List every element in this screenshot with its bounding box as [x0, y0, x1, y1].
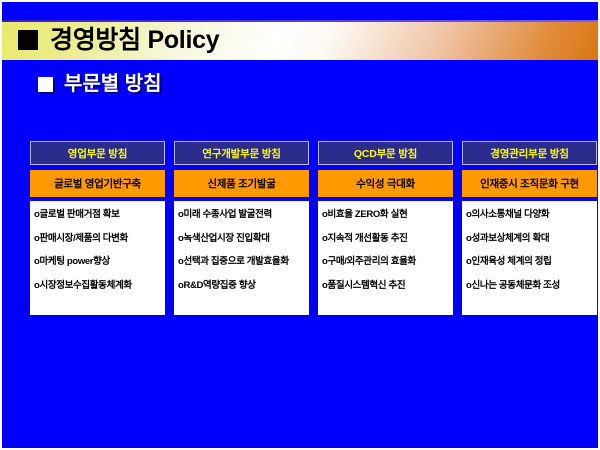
- policy-column-sales: 영업부문 방침 글로벌 영업기반구축 o 글로벌 판매거점 확보 o 판매시장/…: [30, 141, 165, 315]
- policy-columns: 영업부문 방침 글로벌 영업기반구축 o 글로벌 판매거점 확보 o 판매시장/…: [30, 141, 577, 315]
- column-header: 연구개발부문 방침: [174, 141, 309, 165]
- list-item-label: 성과보상체계의 확대: [471, 234, 549, 244]
- list-item: o 비효율 ZERO화 실현: [322, 210, 450, 220]
- list-item-label: 녹색산업시장 진입확대: [183, 234, 269, 244]
- policy-column-qcd: QCD부문 방침 수익성 극대화 o 비효율 ZERO화 실현 o 지속적 개선…: [318, 141, 453, 315]
- list-item: o 신나는 공동체문화 조성: [466, 281, 594, 291]
- list-item-label: 비효율 ZERO화 실현: [327, 210, 407, 220]
- list-item: o 시장정보수집활동체계화: [34, 281, 162, 291]
- list-item: o 품질시스템혁신 추진: [322, 281, 450, 291]
- column-subhead: 수익성 극대화: [318, 170, 453, 197]
- policy-column-management: 경영관리부문 방침 인재중시 조직문화 구현 o 의사소통채널 다양화 o 성과…: [462, 141, 597, 315]
- list-item-label: 품질시스템혁신 추진: [327, 281, 405, 291]
- column-header: 영업부문 방침: [30, 141, 165, 165]
- list-item: o 선택과 집중으로 개발효율화: [178, 257, 306, 267]
- white-square-marker-icon: [38, 77, 53, 92]
- list-item: o 성과보상체계의 확대: [466, 234, 594, 244]
- list-item: o 구매/외주관리의 효율화: [322, 257, 450, 267]
- column-bullet-list: o 비효율 ZERO화 실현 o 지속적 개선활동 추진 o 구매/외주관리의 …: [318, 201, 453, 315]
- list-item-label: 의사소통채널 다양화: [471, 210, 549, 220]
- list-item-label: 미래 수종사업 발굴전력: [183, 210, 271, 220]
- list-item: o 판매시장/제품의 다변화: [34, 234, 162, 244]
- policy-column-rnd: 연구개발부문 방침 신제품 조기발굴 o 미래 수종사업 발굴전력 o 녹색산업…: [174, 141, 309, 315]
- list-item-label: 판매시장/제품의 다변화: [39, 234, 127, 244]
- list-item-label: 글로벌 판매거점 확보: [39, 210, 119, 220]
- slide-title-text: 경영방침 Policy: [50, 28, 219, 53]
- column-subhead: 글로벌 영업기반구축: [30, 170, 165, 197]
- list-item: o 지속적 개선활동 추진: [322, 234, 450, 244]
- list-item: o 글로벌 판매거점 확보: [34, 210, 162, 220]
- column-bullet-list: o 미래 수종사업 발굴전력 o 녹색산업시장 진입확대 o 선택과 집중으로 …: [174, 201, 309, 315]
- list-item: o 마케팅 power향상: [34, 257, 162, 267]
- column-bullet-list: o 글로벌 판매거점 확보 o 판매시장/제품의 다변화 o 마케팅 power…: [30, 201, 165, 315]
- list-item: o R&D역량집중 향상: [178, 281, 306, 291]
- list-item: o 미래 수종사업 발굴전력: [178, 210, 306, 220]
- list-item-label: 선택과 집중으로 개발효율화: [183, 257, 288, 267]
- list-item-label: 인재육성 체계의 정립: [471, 257, 551, 267]
- list-item-label: 신나는 공동체문화 조성: [471, 281, 559, 291]
- slide-subheading-text: 부문별 방침: [64, 74, 162, 94]
- list-item-label: 구매/외주관리의 효율화: [327, 257, 415, 267]
- slide-canvas: 경영방침 Policy 부문별 방침 영업부문 방침 글로벌 영업기반구축 o …: [0, 0, 600, 450]
- slide-subheading: 부문별 방침: [38, 74, 162, 94]
- list-item-label: 마케팅 power향상: [39, 257, 109, 267]
- column-header: QCD부문 방침: [318, 141, 453, 165]
- list-item: o 녹색산업시장 진입확대: [178, 234, 306, 244]
- list-item: o 의사소통채널 다양화: [466, 210, 594, 220]
- column-bullet-list: o 의사소통채널 다양화 o 성과보상체계의 확대 o 인재육성 체계의 정립 …: [462, 201, 597, 315]
- column-header: 경영관리부문 방침: [462, 141, 597, 165]
- list-item: o 인재육성 체계의 정립: [466, 257, 594, 267]
- slide-title: 경영방침 Policy: [18, 18, 219, 62]
- list-item-label: R&D역량집중 향상: [183, 281, 255, 291]
- list-item-label: 시장정보수집활동체계화: [39, 281, 131, 291]
- list-item-label: 지속적 개선활동 추진: [327, 234, 407, 244]
- column-subhead: 인재중시 조직문화 구현: [462, 170, 597, 197]
- column-subhead: 신제품 조기발굴: [174, 170, 309, 197]
- black-square-marker-icon: [18, 30, 38, 50]
